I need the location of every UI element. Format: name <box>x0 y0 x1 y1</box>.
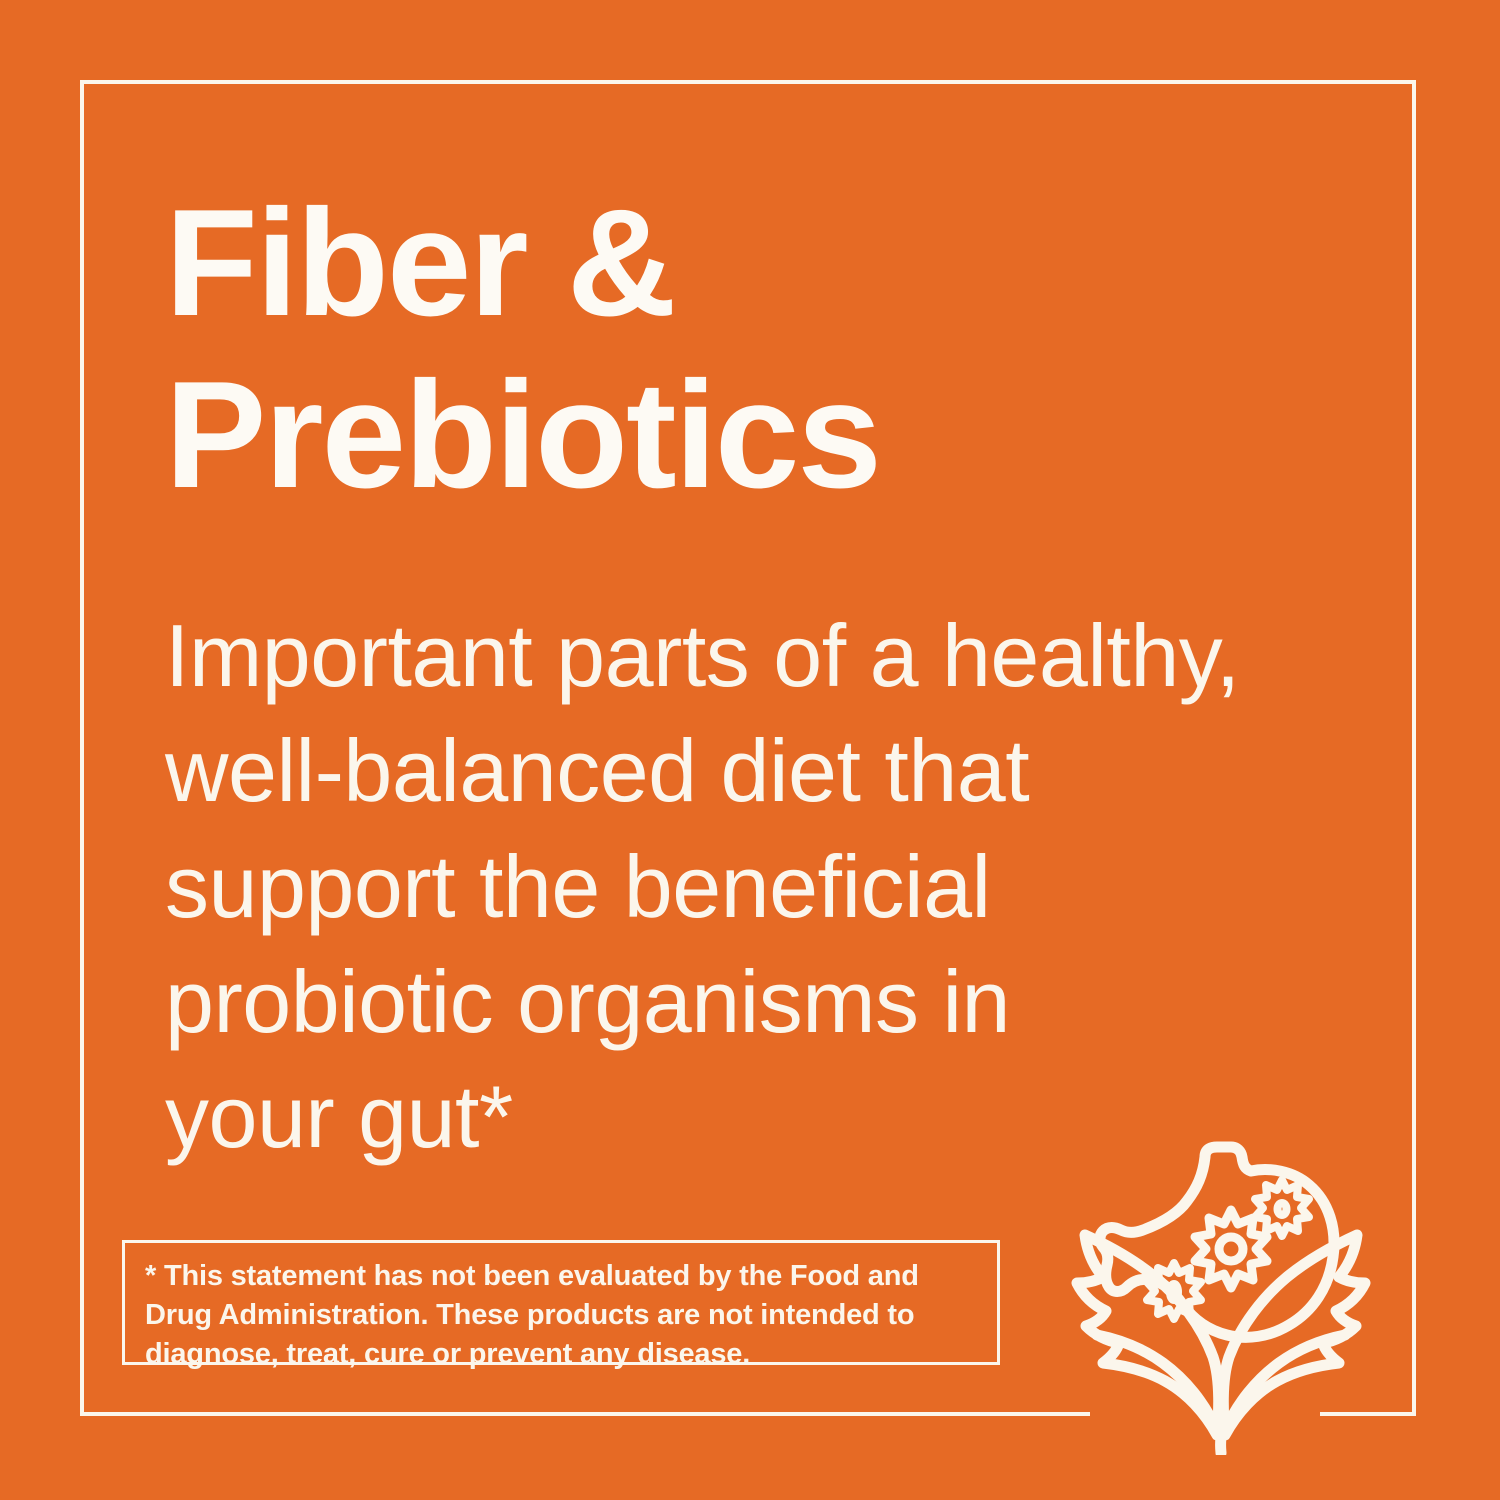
disclaimer-text: * This statement has not been evaluated … <box>145 1257 979 1374</box>
microbe-flower-large <box>1195 1210 1267 1288</box>
body-copy-line-4: probiotic organisms in <box>165 944 1225 1059</box>
body-copy-line-2: well-balanced diet that <box>165 713 1225 828</box>
page-title-line-2: Prebiotics <box>165 350 1165 522</box>
frame-left-edge <box>80 80 84 1416</box>
disclaimer-box: * This statement has not been evaluated … <box>122 1240 1000 1365</box>
body-copy: Important parts of a healthy, well-balan… <box>165 598 1225 1174</box>
body-copy-line-1: Important parts of a healthy, <box>165 598 1225 713</box>
body-copy-line-3: support the beneficial <box>165 829 1225 944</box>
page-title: Fiber & Prebiotics <box>165 178 1165 522</box>
stomach-gut-leaves-icon <box>1055 1135 1415 1455</box>
microbe-flower-small-upper <box>1255 1180 1309 1236</box>
leaf-right <box>1223 1235 1365 1435</box>
page-title-line-1: Fiber & <box>165 178 1165 350</box>
